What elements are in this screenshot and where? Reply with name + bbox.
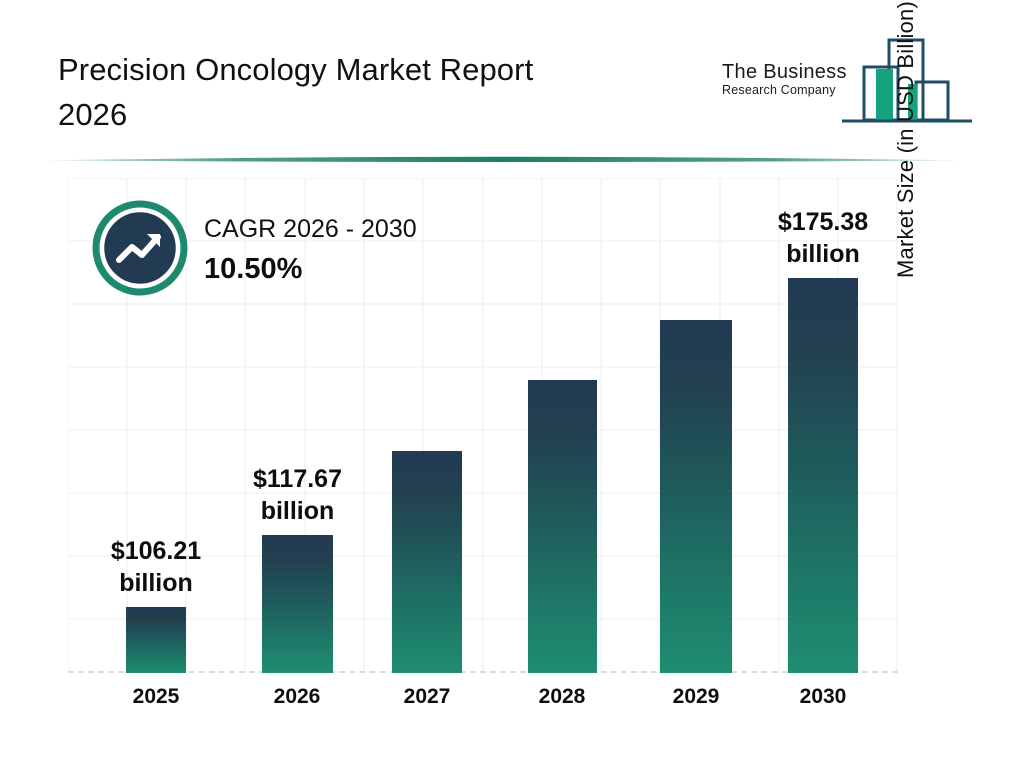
x-tick-2030: 2030 bbox=[800, 685, 847, 709]
bar-slot-2027[interactable] bbox=[392, 451, 462, 673]
bar-2026[interactable] bbox=[262, 535, 333, 673]
x-tick-2025: 2025 bbox=[133, 685, 180, 709]
cagr-badge: CAGR 2026 - 2030 10.50% bbox=[92, 200, 512, 310]
bar-slot-2030[interactable]: $175.38 billion bbox=[788, 278, 858, 673]
axis-baseline bbox=[68, 671, 898, 673]
bar-2025[interactable] bbox=[126, 607, 186, 673]
x-axis: 2025 2026 2027 2028 2029 2030 bbox=[68, 685, 898, 721]
x-tick-2029: 2029 bbox=[673, 685, 720, 709]
header: Precision Oncology Market Report 2026 Th… bbox=[0, 0, 1024, 150]
y-axis-label: Market Size (in USD Billion) bbox=[893, 0, 919, 278]
bar-slot-2029[interactable] bbox=[660, 320, 732, 673]
company-logo: The Business Research Company bbox=[722, 34, 972, 129]
bar-2029[interactable] bbox=[660, 320, 732, 673]
x-tick-2028: 2028 bbox=[539, 685, 586, 709]
page-title: Precision Oncology Market Report 2026 bbox=[58, 48, 698, 138]
bar-2028[interactable] bbox=[528, 380, 597, 673]
x-tick-2026: 2026 bbox=[274, 685, 321, 709]
bar-label-2025: $106.21 billion bbox=[61, 535, 251, 599]
bar-2030[interactable] bbox=[788, 278, 858, 673]
cagr-value-label: 10.50% bbox=[204, 251, 504, 289]
bar-label-2026: $117.67 billion bbox=[203, 463, 393, 527]
header-divider bbox=[42, 152, 962, 168]
bar-slot-2025[interactable]: $106.21 billion bbox=[126, 607, 186, 673]
trending-up-icon bbox=[92, 200, 188, 296]
x-tick-2027: 2027 bbox=[404, 685, 451, 709]
bar-slot-2028[interactable] bbox=[528, 380, 597, 673]
bar-label-2030: $175.38 billion bbox=[728, 206, 918, 270]
cagr-period-label: CAGR 2026 - 2030 bbox=[204, 214, 504, 245]
bar-slot-2026[interactable]: $117.67 billion bbox=[262, 535, 333, 673]
cagr-text-block: CAGR 2026 - 2030 10.50% bbox=[204, 214, 504, 289]
bar-2027[interactable] bbox=[392, 451, 462, 673]
